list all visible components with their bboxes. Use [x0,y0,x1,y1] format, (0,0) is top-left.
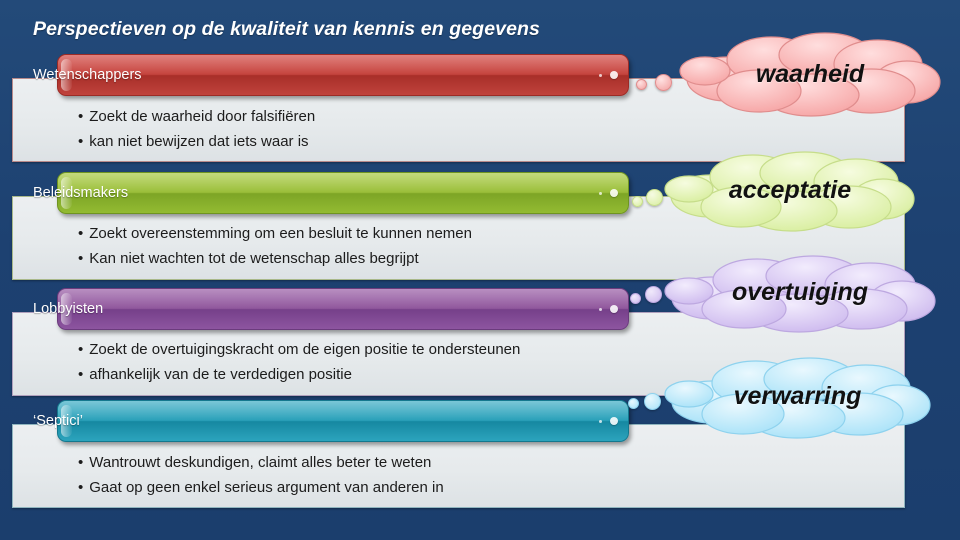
thought-trail-dot-large [644,393,661,410]
bar-small-dot-icon [599,192,602,195]
thought-trail-dot-small [630,293,641,304]
bar-large-dot-icon [610,417,618,425]
bullet-list: Wantrouwt deskundigen, claimt alles bete… [78,450,444,500]
bar-sheen [58,173,628,193]
bar-sheen [58,401,628,421]
page-title: Perspectieven op de kwaliteit van kennis… [33,18,540,41]
category-bar-label: Wetenschappers [33,67,142,83]
bullet-list: Zoekt de waarheid door falsifiëren kan n… [78,104,315,154]
bullet-list: Zoekt overeenstemming om een besluit te … [78,221,472,271]
list-item: afhankelijk van de te verdedigen positie [78,362,520,387]
bar-large-dot-icon [610,305,618,313]
thought-cloud-overtuiging: overtuiging [660,256,940,332]
thought-cloud-waarheid: waarheid [675,33,945,115]
category-bar-label: Beleidsmakers [33,185,128,201]
list-item: kan niet bewijzen dat iets waar is [78,129,315,154]
thought-trail-dot-small [628,398,639,409]
bar-large-dot-icon [610,71,618,79]
bar-sheen [58,289,628,309]
bullet-list: Zoekt de overtuigingskracht om de eigen … [78,337,520,387]
bar-small-dot-icon [599,308,602,311]
category-bar-beleidsmakers[interactable] [57,172,629,214]
bar-large-dot-icon [610,189,618,197]
list-item: Zoekt de waarheid door falsifiëren [78,104,315,129]
list-item: Kan niet wachten tot de wetenschap alles… [78,246,472,271]
category-bar-label: ‘Septici’ [33,413,83,429]
bar-small-dot-icon [599,74,602,77]
bar-small-dot-icon [599,420,602,423]
category-bar-label: Lobbyisten [33,301,103,317]
list-item: Zoekt overeenstemming om een besluit te … [78,221,472,246]
bar-sheen [58,55,628,75]
thought-cloud-label: verwarring [660,382,935,411]
list-item: Zoekt de overtuigingskracht om de eigen … [78,337,520,362]
category-bar-lobbyisten[interactable] [57,288,629,330]
thought-trail-dot-small [636,79,647,90]
category-bar-septici[interactable] [57,400,629,442]
slide-canvas: Perspectieven op de kwaliteit van kennis… [0,0,960,540]
thought-trail-dot-large [655,74,672,91]
thought-cloud-label: overtuiging [660,278,940,307]
list-item: Wantrouwt deskundigen, claimt alles bete… [78,450,444,475]
thought-trail-dot-small [632,196,643,207]
category-bar-wetenschappers[interactable] [57,54,629,96]
thought-cloud-acceptatie: acceptatie [660,152,920,230]
thought-cloud-verwarring: verwarring [660,358,935,438]
thought-cloud-label: waarheid [675,60,945,89]
list-item: Gaat op geen enkel serieus argument van … [78,475,444,500]
thought-cloud-label: acceptatie [660,176,920,205]
